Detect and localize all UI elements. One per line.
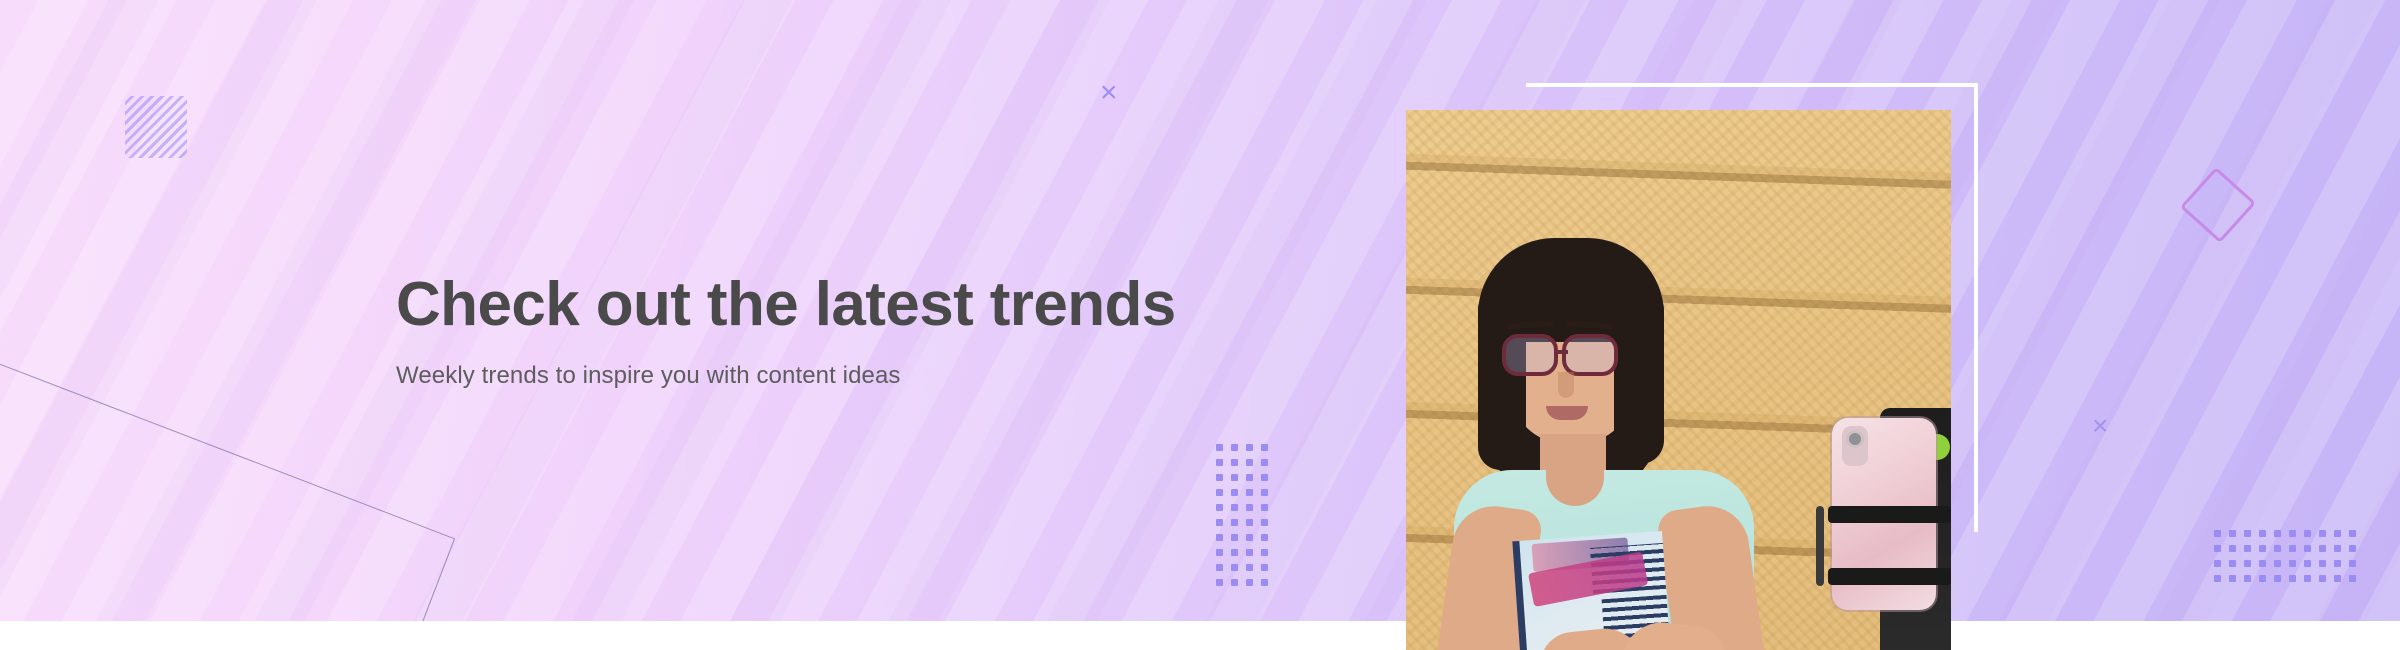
grid-dot (2274, 530, 2281, 537)
hatched-square-decoration (125, 96, 187, 158)
grid-dot (2259, 545, 2266, 552)
cross-icon-right: × (2092, 412, 2108, 440)
grid-dot (1231, 459, 1238, 466)
grid-dot (2319, 560, 2326, 567)
grid-dot (2304, 575, 2311, 582)
grid-dot (1246, 519, 1253, 526)
grid-dot (1216, 519, 1223, 526)
grid-dot (2289, 545, 2296, 552)
grid-dot (1261, 474, 1268, 481)
grid-dot (1231, 489, 1238, 496)
grid-dot (1246, 564, 1253, 571)
grid-dot (2334, 530, 2341, 537)
grid-dot (1246, 444, 1253, 451)
grid-dot (1231, 474, 1238, 481)
grid-dot (1261, 534, 1268, 541)
page-background-strip (0, 621, 2400, 650)
grid-dot (2244, 545, 2251, 552)
grid-dot (2259, 530, 2266, 537)
grid-dot (1231, 549, 1238, 556)
grid-dot (1246, 459, 1253, 466)
grid-dot (1231, 519, 1238, 526)
grid-dot (1261, 444, 1268, 451)
grid-dot (1231, 444, 1238, 451)
grid-dot (1246, 474, 1253, 481)
grid-dot (2229, 560, 2236, 567)
diamond-outline-decoration (2180, 167, 2256, 243)
grid-dot (2289, 530, 2296, 537)
grid-dot (2214, 545, 2221, 552)
eyeglass-lens-left (1502, 334, 1558, 376)
banner-stage: × × Check out the latest trends Weekly t… (0, 0, 2400, 650)
grid-dot (2334, 575, 2341, 582)
nose (1558, 372, 1574, 398)
grid-dot (1246, 504, 1253, 511)
grid-dot (2214, 575, 2221, 582)
grid-dot (1216, 444, 1223, 451)
phone-clamp-upper (1828, 506, 1951, 523)
person-figure: all (1454, 238, 1754, 650)
grid-dot (1246, 579, 1253, 586)
grid-dot (2349, 575, 2356, 582)
grid-dot (1261, 579, 1268, 586)
grid-dot (2244, 560, 2251, 567)
grid-dot (2319, 530, 2326, 537)
grid-dot (1246, 534, 1253, 541)
grid-dot (2274, 575, 2281, 582)
grid-dot (2289, 575, 2296, 582)
page-subtitle: Weekly trends to inspire you with conten… (396, 362, 1296, 390)
grid-dot (1261, 549, 1268, 556)
grid-dot (1246, 549, 1253, 556)
grid-dot (1261, 519, 1268, 526)
grid-dot (1261, 459, 1268, 466)
eyeglass-bridge (1558, 350, 1568, 354)
hero-photo: all (1406, 110, 1951, 650)
grid-dot (2304, 530, 2311, 537)
grid-dot (2349, 545, 2356, 552)
grid-dot (1216, 474, 1223, 481)
grid-dot (1231, 579, 1238, 586)
grid-dot (2229, 530, 2236, 537)
grid-dot (2349, 560, 2356, 567)
grid-dot (1216, 579, 1223, 586)
grid-dot (2259, 560, 2266, 567)
grid-dot (1216, 564, 1223, 571)
grid-dot (1216, 534, 1223, 541)
grid-dot (2244, 530, 2251, 537)
grid-dot (1261, 564, 1268, 571)
grid-dot (2289, 560, 2296, 567)
grid-dot (2319, 545, 2326, 552)
grid-dot (2229, 575, 2236, 582)
grid-dot (1261, 504, 1268, 511)
grid-dot (1261, 489, 1268, 496)
grid-dot (1216, 549, 1223, 556)
grid-dot (2334, 545, 2341, 552)
grid-dot (1246, 489, 1253, 496)
grid-dot (2229, 545, 2236, 552)
grid-dot (2244, 575, 2251, 582)
grid-dot (1231, 564, 1238, 571)
grid-dot (1216, 504, 1223, 511)
grid-dot (1216, 489, 1223, 496)
grid-dot (1231, 534, 1238, 541)
page-title: Check out the latest trends (396, 272, 1296, 338)
grid-dot (2274, 545, 2281, 552)
phone-clamp-lower (1828, 568, 1951, 585)
banner-copy: Check out the latest trends Weekly trend… (396, 272, 1296, 390)
grid-dot (2304, 545, 2311, 552)
grid-dot (2349, 530, 2356, 537)
grid-dot (2319, 575, 2326, 582)
phone-camera-lens-icon (1846, 430, 1864, 448)
rotated-rectangle-outline-decoration (0, 352, 455, 621)
grid-dot (2274, 560, 2281, 567)
grid-dot (2259, 575, 2266, 582)
grid-dot (2214, 530, 2221, 537)
hero-banner: × × Check out the latest trends Weekly t… (0, 0, 2400, 621)
grid-dot (2214, 560, 2221, 567)
phone-clamp-bar (1816, 506, 1824, 586)
grid-dot (1216, 459, 1223, 466)
eyeglass-lens-right (1562, 334, 1618, 376)
grid-dot (2334, 560, 2341, 567)
cross-icon-top: × (1100, 78, 1118, 108)
grid-dot (1231, 504, 1238, 511)
grid-dot (2304, 560, 2311, 567)
